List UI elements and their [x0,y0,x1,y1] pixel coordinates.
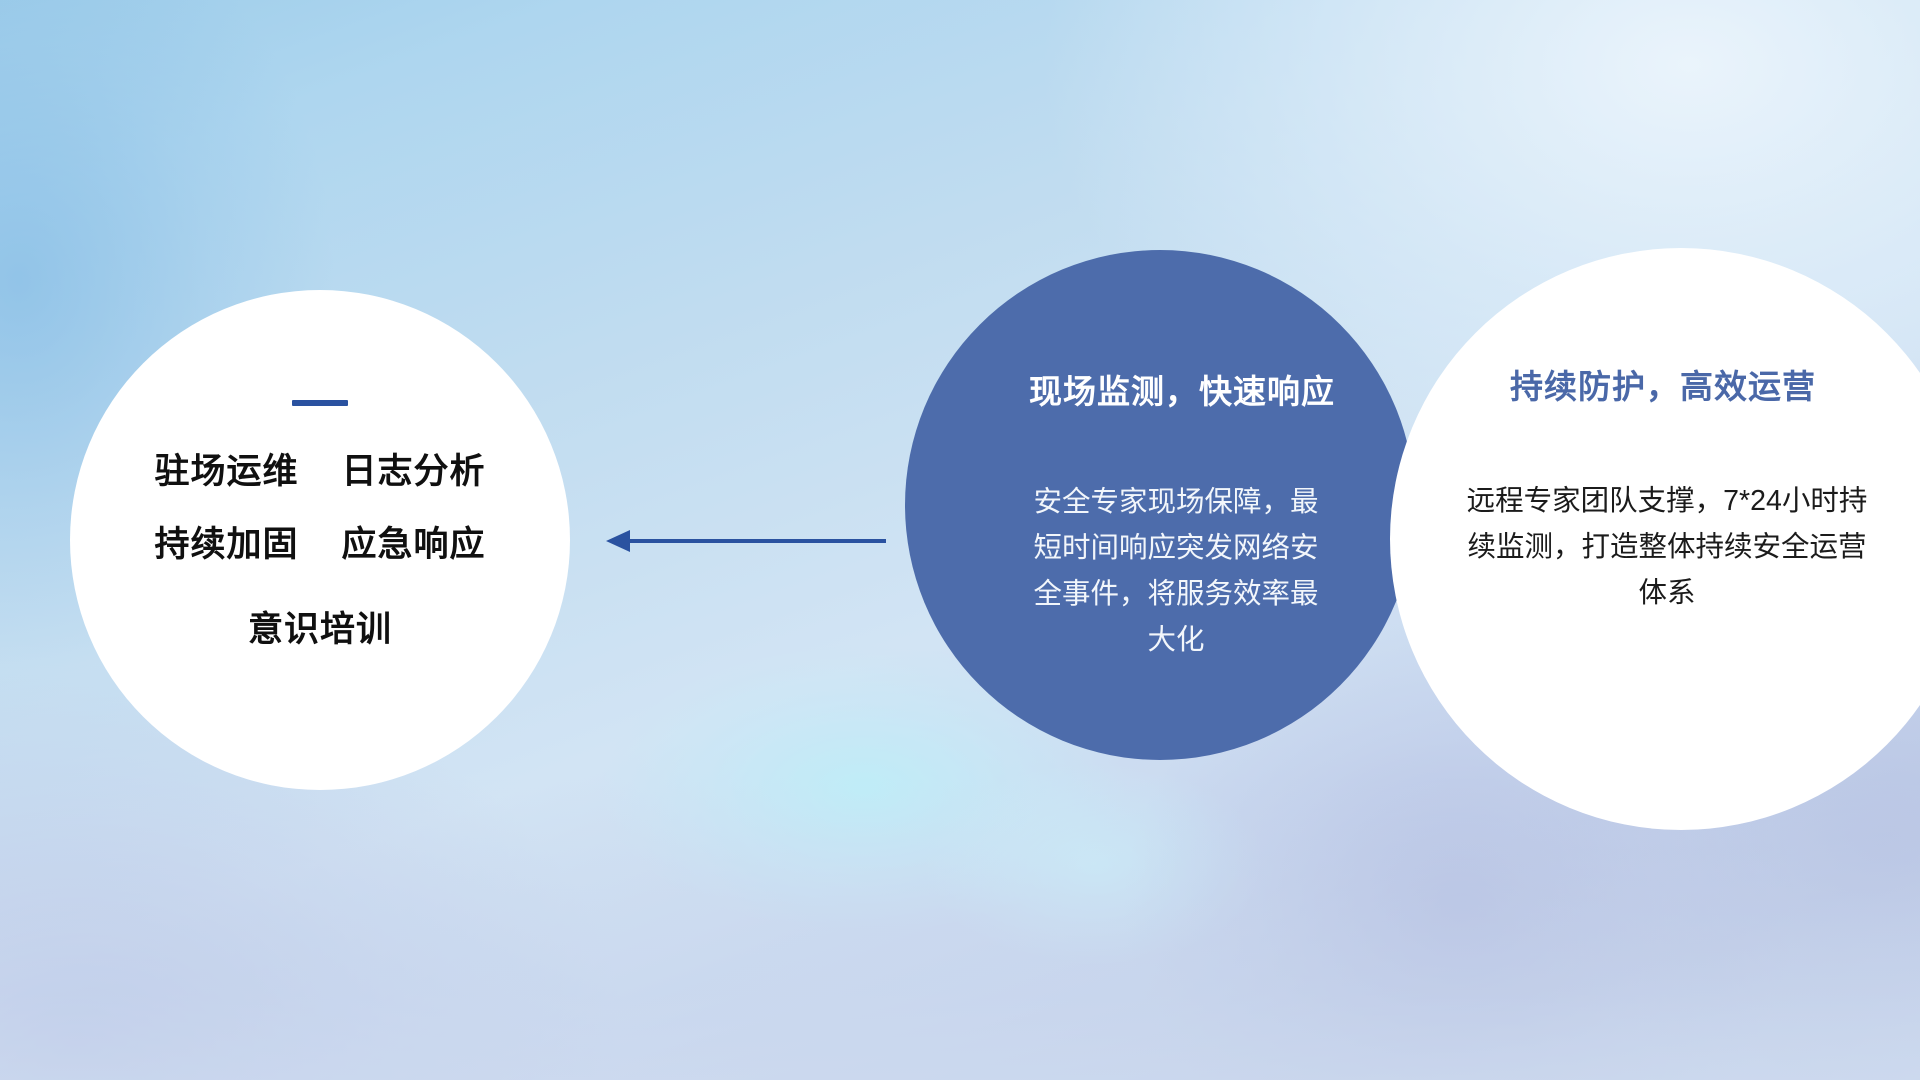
left-keyword-row-3: 意识培训 [248,612,392,647]
slide-canvas: 驻场运维 日志分析 持续加固 应急响应 意识培训 现场监测，快速响应 安全专家现… [0,0,1920,1080]
left-circle-content: 驻场运维 日志分析 持续加固 应急响应 意识培训 [70,290,570,790]
left-keyword-row-1: 驻场运维 日志分析 [155,454,486,489]
right-circle-description: 远程专家团队支撑，7*24小时持续监测，打造整体持续安全运营体系 [1457,478,1877,616]
left-divider-dash [292,400,348,406]
arrow-left-icon [600,520,890,562]
middle-circle-shape [905,250,1415,760]
left-keyword-row-2: 持续加固 应急响应 [155,527,486,562]
right-circle-content: 持续防护，高效运营 远程专家团队支撑，7*24小时持续监测，打造整体持续安全运营… [1390,248,1920,830]
right-circle-title: 持续防护，高效运营 [1510,360,1816,408]
